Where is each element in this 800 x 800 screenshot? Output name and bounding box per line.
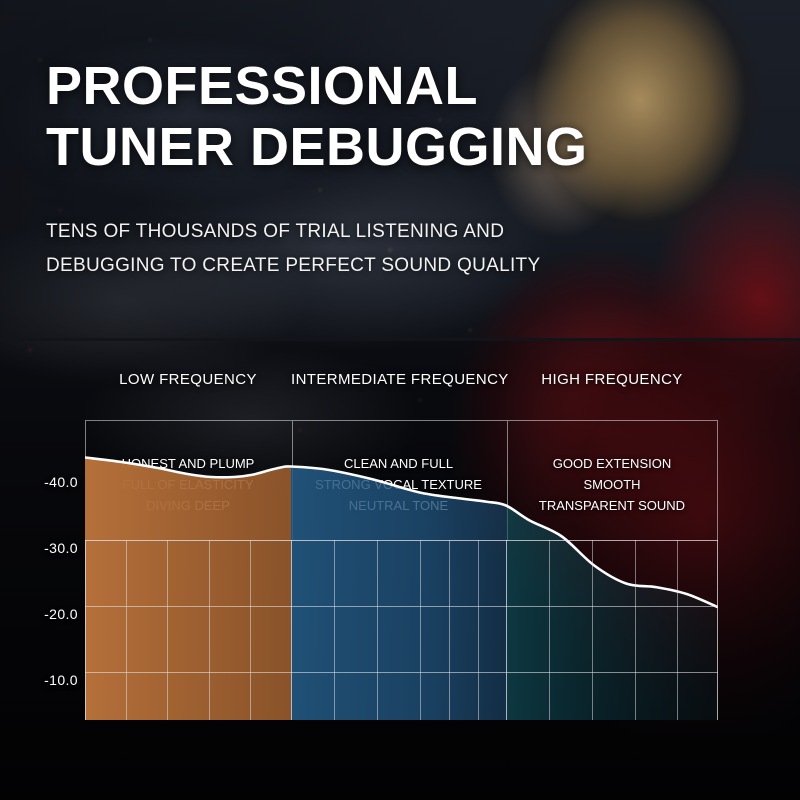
promo-page: PROFESSIONAL TUNER DEBUGGING TENS OF THO… [0, 0, 800, 800]
gridline-v-1 [126, 540, 127, 720]
y-axis-labels: -40.0 -30.0 -20.0 -10.0 [0, 420, 78, 720]
hero-title-line-2: TUNER DEBUGGING [46, 118, 588, 176]
chart-gridlines [85, 540, 718, 720]
gridline-v-1000 [506, 540, 507, 720]
hero-subtitle-line-2: DEBUGGING TO CREATE PERFECT SOUND QUALIT… [46, 256, 540, 275]
y-tick-label-10: -10.0 [44, 672, 78, 688]
gridline-v-7 [420, 540, 421, 720]
gridline-v-4 [250, 540, 251, 720]
gridline-v-2 [167, 540, 168, 720]
band-title-high: HIGH FREQUENCY [506, 371, 718, 388]
gridline-v-11 [592, 540, 593, 720]
y-tick-label-40: -40.0 [44, 474, 78, 490]
gridline-v-8 [449, 540, 450, 720]
gridline-h-30 [85, 540, 718, 541]
hero-subtitle-line-1: TENS OF THOUSANDS OF TRIAL LISTENING AND [46, 222, 504, 241]
gridline-v-500 [291, 540, 292, 720]
gridline-h-20 [85, 606, 718, 607]
frequency-response-chart: LOW FREQUENCY INTERMEDIATE FREQUENCY HIG… [0, 341, 800, 800]
gridline-v-10 [549, 540, 550, 720]
gridline-h-10 [85, 672, 718, 673]
gridline-v-12 [635, 540, 636, 720]
hero-section: PROFESSIONAL TUNER DEBUGGING TENS OF THO… [0, 0, 800, 340]
y-tick-label-30: -30.0 [44, 540, 78, 556]
gridline-v-9 [478, 540, 479, 720]
plot-area: HONEST AND PLUMP FULL OF ELASTICITY DIVI… [85, 420, 718, 720]
gridline-v-6 [377, 540, 378, 720]
band-title-intermediate: INTERMEDIATE FREQUENCY [291, 371, 506, 388]
band-title-low: LOW FREQUENCY [85, 371, 291, 388]
gridline-v-3 [209, 540, 210, 720]
gridline-v-0 [85, 540, 86, 720]
gridline-v-13 [677, 540, 678, 720]
y-tick-label-20: -20.0 [44, 606, 78, 622]
hero-title-line-1: PROFESSIONAL [46, 57, 478, 115]
gridline-v-5 [334, 540, 335, 720]
gridline-v-end [717, 540, 718, 720]
